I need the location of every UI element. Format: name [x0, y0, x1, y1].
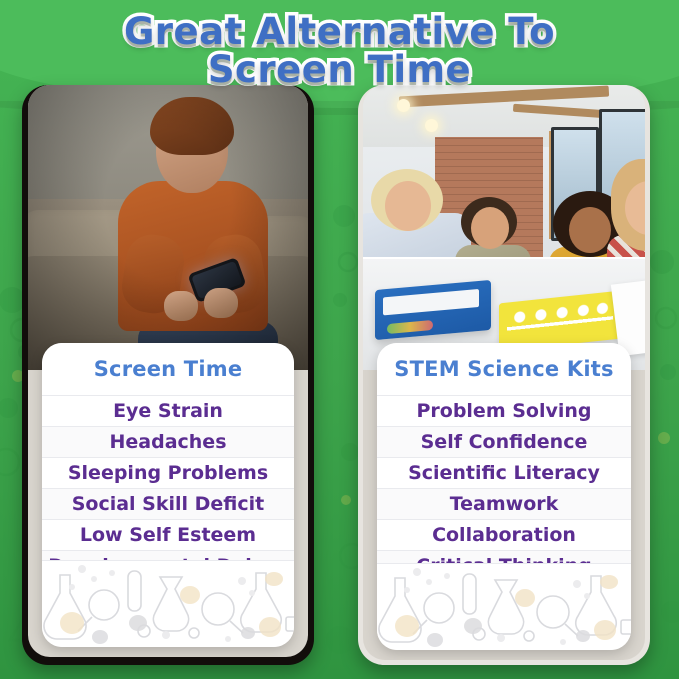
ceiling-lamp	[425, 119, 438, 132]
page-title: Great Alternative To Screen Time	[0, 14, 679, 89]
list-item: Self Confidence	[377, 426, 631, 457]
list-item: Headaches	[42, 426, 294, 457]
stem-kits-card-footer-art	[377, 563, 631, 650]
title-line-2: Screen Time	[0, 52, 679, 88]
poster-root: Great Alternative To Screen Time	[0, 0, 679, 679]
screen-time-card: Screen Time Eye Strain Headaches Sleepin…	[42, 343, 294, 647]
list-item: Eye Strain	[42, 395, 294, 426]
left-panel-frame: Screen Time Eye Strain Headaches Sleepin…	[22, 85, 314, 665]
screen-time-photo	[28, 85, 308, 370]
ceiling-lamp	[397, 99, 410, 112]
list-item: Low Self Esteem	[42, 519, 294, 550]
left-panel-inner: Screen Time Eye Strain Headaches Sleepin…	[28, 85, 308, 657]
right-panel: STEM Science Kits Problem Solving Self C…	[358, 85, 650, 665]
screen-time-list: Eye Strain Headaches Sleeping Problems S…	[42, 395, 294, 581]
stem-kits-list: Problem Solving Self Confidence Scientif…	[377, 395, 631, 581]
screen-time-card-header: Screen Time	[42, 343, 294, 395]
list-item: Teamwork	[377, 488, 631, 519]
stem-kits-photo	[363, 85, 645, 370]
list-item: Collaboration	[377, 519, 631, 550]
list-item: Sleeping Problems	[42, 457, 294, 488]
screen-time-card-footer-art	[42, 560, 294, 647]
list-item: Social Skill Deficit	[42, 488, 294, 519]
stem-kits-card: STEM Science Kits Problem Solving Self C…	[377, 343, 631, 650]
list-item: Scientific Literacy	[377, 457, 631, 488]
right-panel-inner: STEM Science Kits Problem Solving Self C…	[363, 85, 645, 660]
list-item: Problem Solving	[377, 395, 631, 426]
stem-kit-box	[375, 280, 491, 340]
photo-vignette	[28, 85, 308, 370]
stem-kits-card-header: STEM Science Kits	[377, 343, 631, 395]
title-line-1: Great Alternative To	[0, 14, 679, 50]
left-panel: Screen Time Eye Strain Headaches Sleepin…	[22, 85, 314, 665]
right-panel-frame: STEM Science Kits Problem Solving Self C…	[358, 85, 650, 665]
